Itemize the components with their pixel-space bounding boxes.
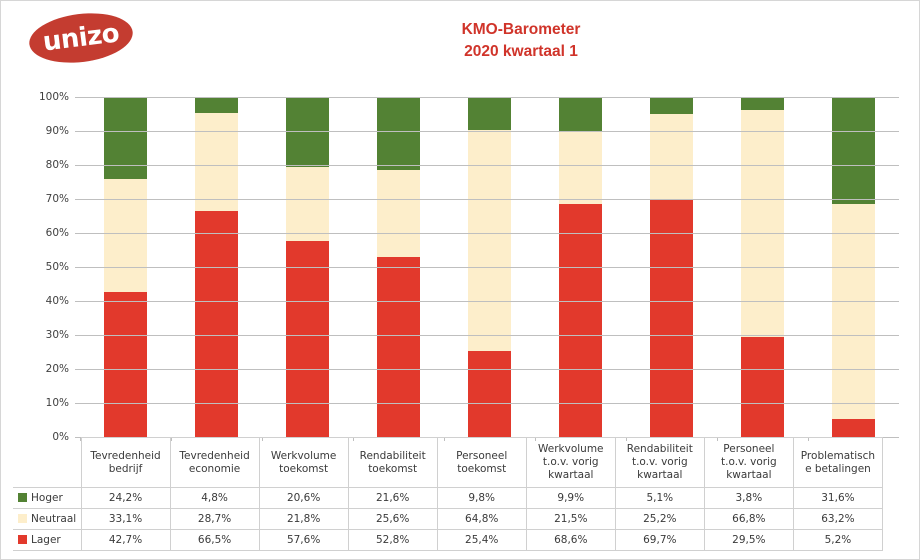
table-cell: 25,2% (615, 509, 704, 530)
table-cell: 4,8% (170, 488, 259, 509)
table-cell: 57,6% (259, 530, 348, 551)
table-row: Hoger 24,2%4,8%20,6%21,6%9,8%9,9%5,1%3,8… (13, 488, 883, 509)
gridline (80, 301, 899, 302)
table-cell: 68,6% (526, 530, 615, 551)
table-cell: 20,6% (259, 488, 348, 509)
bar-segment-hoger (832, 97, 875, 204)
y-axis-tick-mark (75, 369, 80, 370)
bar-segment-lager (650, 200, 693, 437)
data-table: TevredenheidbedrijfTevredenheideconomieW… (13, 437, 883, 551)
bar-segment-lager (468, 351, 511, 437)
legend-label-lager: Lager (31, 534, 61, 546)
y-axis-tick-label: 60% (23, 227, 69, 239)
y-axis-tick-mark (75, 131, 80, 132)
table-row: Lager 42,7%66,5%57,6%52,8%25,4%68,6%69,7… (13, 530, 883, 551)
column-header-line: Tevredenheid (84, 450, 168, 463)
y-axis-tick-label: 30% (23, 329, 69, 341)
gridline (80, 233, 899, 234)
y-axis-tick-mark (75, 267, 80, 268)
legend-cell-lager: Lager (13, 530, 81, 551)
bar-segment-lager (104, 292, 147, 437)
gridline (80, 335, 899, 336)
unizo-logo: unizo (29, 11, 133, 65)
y-axis: 100%90%80%70%60%50%40%30%20%10%0% (23, 89, 75, 445)
bar-segment-hoger (195, 97, 238, 113)
table-cell: 21,6% (348, 488, 437, 509)
y-axis-tick-mark (75, 301, 80, 302)
y-axis-tick-label: 20% (23, 363, 69, 375)
bar-segment-neutraal (650, 114, 693, 200)
table-head: TevredenheidbedrijfTevredenheideconomieW… (13, 438, 883, 488)
bar-segment-hoger (468, 97, 511, 130)
bar-segment-lager (286, 241, 329, 437)
bar-segment-hoger (650, 97, 693, 114)
table-column-header: Rendabiliteitt.o.v. vorigkwartaal (615, 438, 704, 488)
table-cell: 21,5% (526, 509, 615, 530)
chart-title-line1: KMO-Barometer (341, 19, 701, 41)
bar-segment-hoger (741, 97, 784, 110)
column-header-line: kwartaal (618, 469, 702, 482)
column-header-line: kwartaal (529, 469, 613, 482)
legend-cell-hoger: Hoger (13, 488, 81, 509)
y-axis-tick-mark (75, 233, 80, 234)
table-header-row: TevredenheidbedrijfTevredenheideconomieW… (13, 438, 883, 488)
table-row: Neutraal 33,1%28,7%21,8%25,6%64,8%21,5%2… (13, 509, 883, 530)
table-cell: 42,7% (81, 530, 170, 551)
bar-segment-neutraal (104, 179, 147, 292)
table-cell: 3,8% (704, 488, 793, 509)
logo-wordmark: unizo (26, 8, 135, 68)
legend-label-neutraal: Neutraal (31, 513, 76, 525)
table-cell: 52,8% (348, 530, 437, 551)
gridline (80, 369, 899, 370)
gridline (80, 131, 899, 132)
gridline (80, 199, 899, 200)
column-header-line: Rendabiliteit (351, 450, 435, 463)
table-column-header: Tevredenheideconomie (170, 438, 259, 488)
chart-title-line2: 2020 kwartaal 1 (341, 41, 701, 63)
table-cell: 64,8% (437, 509, 526, 530)
y-axis-tick-label: 70% (23, 193, 69, 205)
y-axis-tick-mark (75, 335, 80, 336)
legend-header-cell (13, 438, 81, 488)
bar-segment-hoger (286, 97, 329, 167)
legend-swatch-lager-icon (18, 535, 27, 544)
gridline (80, 97, 899, 98)
table-cell: 21,8% (259, 509, 348, 530)
table-column-header: Werkvolumetoekomst (259, 438, 348, 488)
chart-screenshot: unizo KMO-Barometer 2020 kwartaal 1 100%… (0, 0, 920, 560)
column-header-line: toekomst (351, 463, 435, 476)
column-header-line: t.o.v. vorig (707, 456, 791, 469)
column-header-line: e betalingen (796, 463, 880, 476)
table-cell: 63,2% (793, 509, 882, 530)
column-header-line: bedrijf (84, 463, 168, 476)
bar-segment-hoger (104, 97, 147, 179)
legend-label-hoger: Hoger (31, 492, 63, 504)
column-header-line: kwartaal (707, 469, 791, 482)
table-cell: 5,2% (793, 530, 882, 551)
table-column-header: Tevredenheidbedrijf (81, 438, 170, 488)
table-cell: 28,7% (170, 509, 259, 530)
column-header-line: Werkvolume (262, 450, 346, 463)
bar-segment-hoger (377, 97, 420, 170)
bar-segment-neutraal (468, 130, 511, 350)
column-header-line: Personeel (440, 450, 524, 463)
table-cell: 9,8% (437, 488, 526, 509)
gridline (80, 403, 899, 404)
y-axis-tick-label: 80% (23, 159, 69, 171)
table-column-header: Personeeltoekomst (437, 438, 526, 488)
plot-area (80, 97, 899, 437)
column-header-line: Werkvolume (529, 443, 613, 456)
data-table-container: TevredenheidbedrijfTevredenheideconomieW… (13, 437, 883, 551)
plot-container: 100%90%80%70%60%50%40%30%20%10%0% (23, 89, 899, 445)
table-cell: 24,2% (81, 488, 170, 509)
column-header-line: Problematisch (796, 450, 880, 463)
column-header-line: Personeel (707, 443, 791, 456)
table-cell: 29,5% (704, 530, 793, 551)
table-cell: 25,4% (437, 530, 526, 551)
column-header-line: Rendabiliteit (618, 443, 702, 456)
bar-segment-neutraal (195, 113, 238, 211)
table-column-header: Problematische betalingen (793, 438, 882, 488)
table-cell: 25,6% (348, 509, 437, 530)
column-header-line: t.o.v. vorig (618, 456, 702, 469)
y-axis-tick-label: 90% (23, 125, 69, 137)
bar-segment-lager (832, 419, 875, 437)
bar-segment-neutraal (377, 170, 420, 257)
table-cell: 33,1% (81, 509, 170, 530)
bar-segment-hoger (559, 97, 602, 131)
column-header-line: economie (173, 463, 257, 476)
legend-swatch-neutraal-icon (18, 514, 27, 523)
column-header-line: toekomst (440, 463, 524, 476)
bar-segment-neutraal (741, 110, 784, 337)
y-axis-tick-mark (75, 199, 80, 200)
y-axis-tick-mark (75, 403, 80, 404)
table-cell: 66,5% (170, 530, 259, 551)
bar-segment-neutraal (286, 167, 329, 241)
y-axis-tick-label: 10% (23, 397, 69, 409)
bar-segment-lager (377, 257, 420, 437)
table-column-header: Werkvolumet.o.v. vorigkwartaal (526, 438, 615, 488)
table-cell: 5,1% (615, 488, 704, 509)
table-cell: 66,8% (704, 509, 793, 530)
y-axis-tick-label: 50% (23, 261, 69, 273)
bar-segment-neutraal (832, 204, 875, 419)
y-axis-tick-mark (75, 165, 80, 166)
y-axis-tick-label: 100% (23, 91, 69, 103)
table-column-header: Personeelt.o.v. vorigkwartaal (704, 438, 793, 488)
column-header-line: t.o.v. vorig (529, 456, 613, 469)
table-body: Hoger 24,2%4,8%20,6%21,6%9,8%9,9%5,1%3,8… (13, 488, 883, 551)
bar-segment-lager (741, 337, 784, 437)
legend-swatch-hoger-icon (18, 493, 27, 502)
table-column-header: Rendabiliteittoekomst (348, 438, 437, 488)
table-cell: 9,9% (526, 488, 615, 509)
table-cell: 31,6% (793, 488, 882, 509)
legend-cell-neutraal: Neutraal (13, 509, 81, 530)
gridline (80, 165, 899, 166)
column-header-line: toekomst (262, 463, 346, 476)
gridline (80, 267, 899, 268)
bar-segment-lager (559, 204, 602, 437)
y-axis-tick-label: 40% (23, 295, 69, 307)
chart-title: KMO-Barometer 2020 kwartaal 1 (341, 19, 701, 63)
table-cell: 69,7% (615, 530, 704, 551)
column-header-line: Tevredenheid (173, 450, 257, 463)
bar-segment-neutraal (559, 131, 602, 204)
y-axis-tick-mark (75, 97, 80, 98)
